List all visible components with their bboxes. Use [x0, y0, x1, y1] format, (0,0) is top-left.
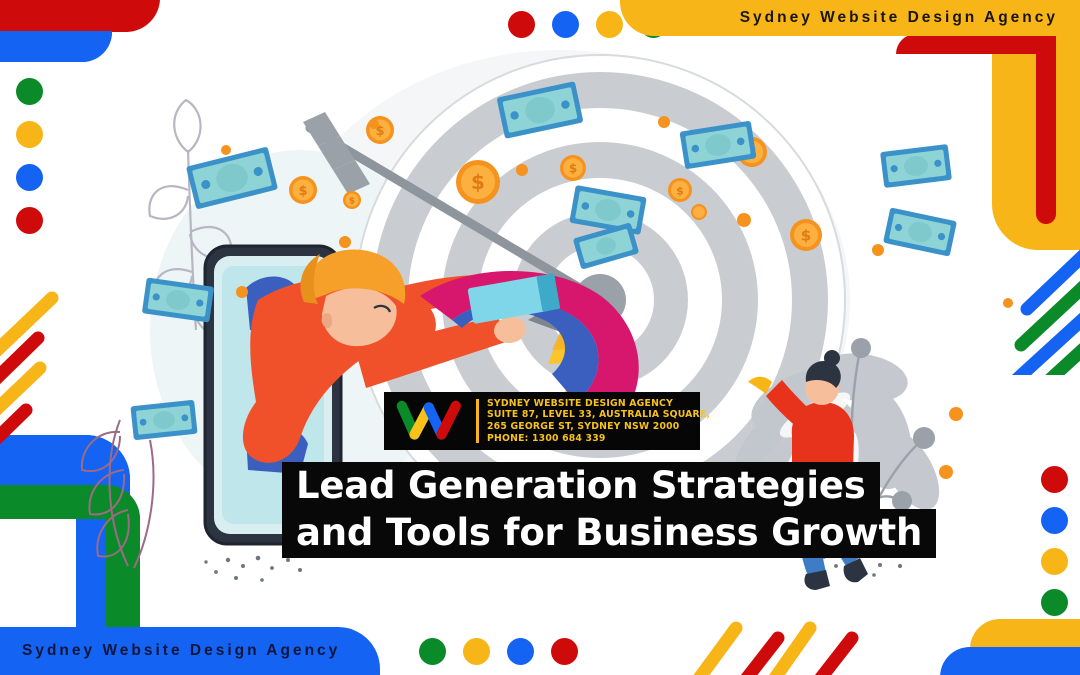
poster-title: Lead Generation Strategies and Tools for…: [282, 462, 1080, 558]
address-line-3: 265 GEORGE ST, SYDNEY NSW 2000: [487, 421, 710, 433]
top-banner-text: Sydney Website Design Agency: [740, 9, 1058, 27]
svg-text:$: $: [569, 162, 577, 176]
poster-canvas: $ $ $ $ $ $ $: [0, 0, 1080, 675]
title-line-2: and Tools for Business Growth: [282, 509, 936, 558]
svg-text:$: $: [298, 184, 307, 199]
logo-divider: [476, 399, 479, 443]
address-lines: SYDNEY WEBSITE DESIGN AGENCY SUITE 87, L…: [487, 398, 710, 444]
address-line-1: SYDNEY WEBSITE DESIGN AGENCY: [487, 398, 710, 410]
bottom-banner-text: Sydney Website Design Agency: [22, 642, 340, 660]
decor-top-left-red-round: [0, 0, 160, 32]
phone-speckles: [204, 556, 302, 582]
address-line-4: PHONE: 1300 684 339: [487, 433, 710, 445]
decor-top-left-blue-round: [0, 31, 112, 62]
svg-text:$: $: [801, 227, 811, 245]
illustration-lead-generation: $ $ $ $ $ $ $: [0, 0, 1080, 675]
address-line-2: SUITE 87, LEVEL 33, AUSTRALIA SQUARE,: [487, 409, 710, 421]
top-banner: Sydney Website Design Agency: [620, 0, 1080, 36]
plant-outline-leaf-bottom: [82, 420, 154, 568]
svg-text:$: $: [471, 170, 485, 194]
svg-text:$: $: [676, 184, 684, 197]
title-line-1: Lead Generation Strategies: [282, 462, 880, 511]
w-logo-icon: [392, 398, 472, 444]
logo-address-badge: SYDNEY WEBSITE DESIGN AGENCY SUITE 87, L…: [384, 392, 700, 450]
bottom-banner: Sydney Website Design Agency: [0, 627, 380, 675]
svg-text:$: $: [349, 196, 355, 206]
